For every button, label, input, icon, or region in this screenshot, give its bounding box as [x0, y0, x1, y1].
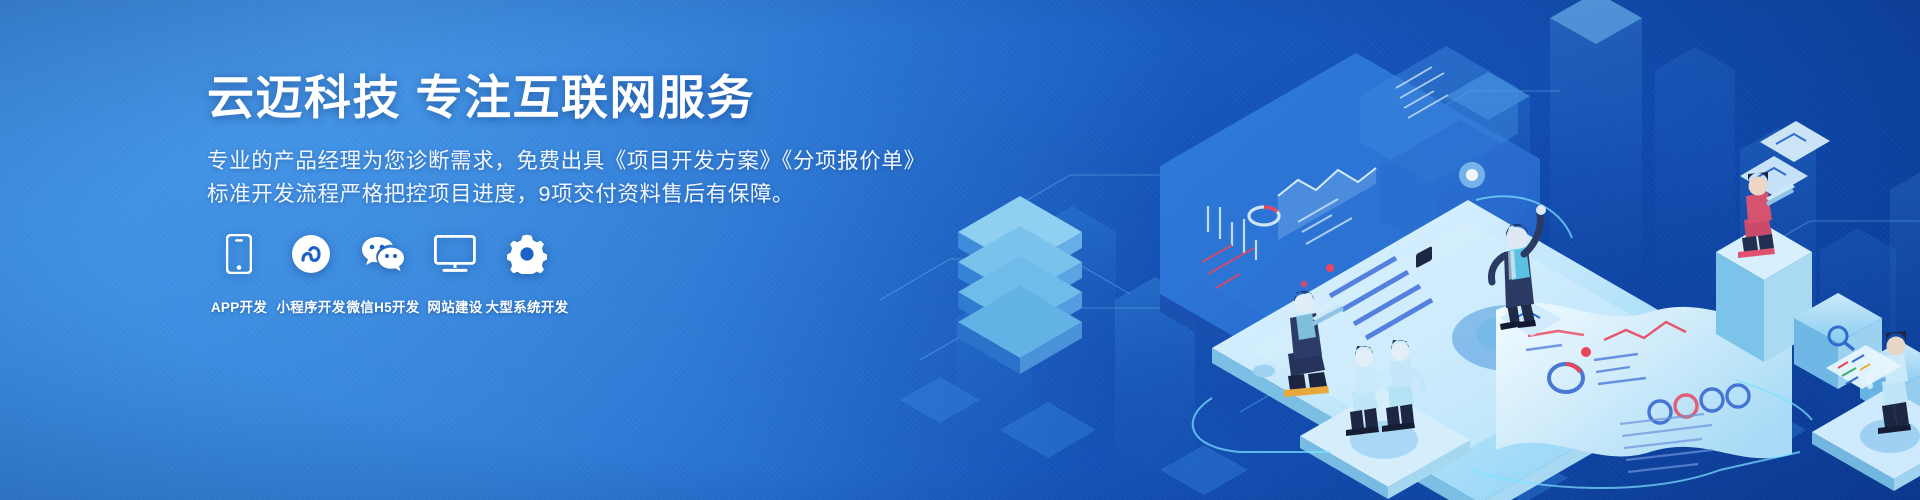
service-item-mini-program[interactable]: 小程序开发	[275, 232, 347, 316]
service-label: 网站建设	[427, 296, 482, 316]
wechat-icon	[361, 232, 405, 276]
subtitle-line-1: 专业的产品经理为您诊断需求，免费出具《项目开发方案》《分项报价单》	[207, 145, 907, 178]
service-label: APP开发	[211, 296, 267, 316]
service-list: APP开发 小程序开发 微信	[203, 232, 563, 316]
subtitle-line-2: 标准开发流程严格把控项目进度，9项交付资料售后有保障。	[207, 178, 907, 211]
banner-subtitle: 专业的产品经理为您诊断需求，免费出具《项目开发方案》《分项报价单》 标准开发流程…	[207, 145, 907, 211]
mini-program-icon	[291, 232, 331, 276]
service-label: 大型系统开发	[486, 296, 569, 316]
isometric-tech-illustration	[860, 0, 1920, 500]
banner-copy: 云迈科技 专注互联网服务 专业的产品经理为您诊断需求，免费出具《项目开发方案》《…	[207, 72, 907, 211]
service-item-wechat-h5[interactable]: 微信H5开发	[347, 232, 419, 316]
monitor-icon	[434, 232, 476, 276]
service-item-website[interactable]: 网站建设	[419, 232, 491, 316]
mobile-phone-icon	[226, 232, 252, 276]
server-stack	[958, 196, 1082, 374]
page-title: 云迈科技 专注互联网服务	[207, 72, 907, 125]
service-label: 微信H5开发	[346, 296, 419, 316]
hero-banner: 云迈科技 专注互联网服务 专业的产品经理为您诊断需求，免费出具《项目开发方案》《…	[0, 0, 1920, 500]
gear-icon	[507, 232, 547, 276]
service-item-large-system[interactable]: 大型系统开发	[491, 232, 563, 316]
service-item-app[interactable]: APP开发	[203, 232, 275, 316]
service-label: 小程序开发	[277, 296, 346, 316]
